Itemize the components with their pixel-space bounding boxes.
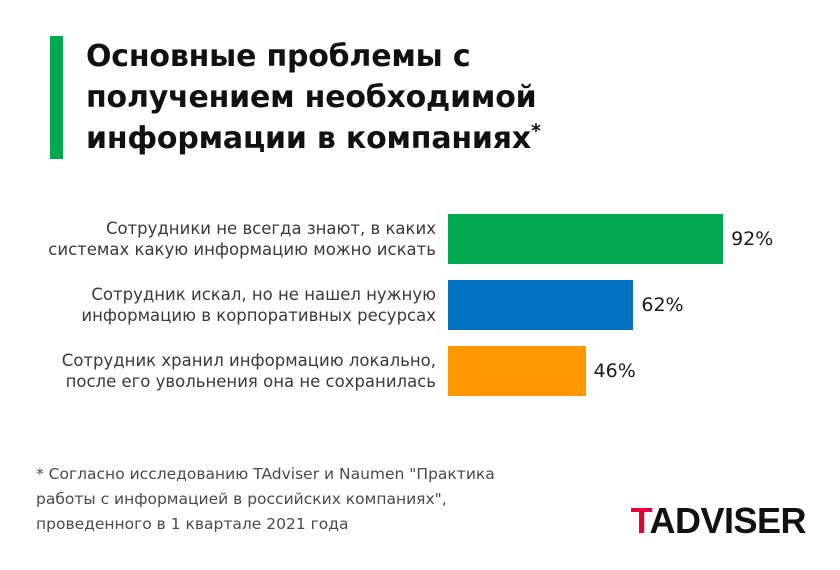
title-footnote-marker: * xyxy=(531,120,541,142)
bar-area: 62% xyxy=(448,280,840,330)
bar-category-label-line-2: после его увольнения она не сохранилась xyxy=(0,371,436,392)
bar-value-label: 46% xyxy=(594,360,636,382)
chart-row: Сотрудник искал, но не нашел нужную инфо… xyxy=(0,280,840,330)
bar-category-label-line-1: Сотрудники не всегда знают, в каких xyxy=(0,218,436,239)
bar-green xyxy=(448,214,723,264)
bar-category-label: Сотрудник искал, но не нашел нужную инфо… xyxy=(0,284,448,326)
bar-category-label-line-2: системах какую информацию можно искать xyxy=(0,239,436,260)
page-title-text: Основные проблемы с получением необходим… xyxy=(86,36,541,159)
bar-value-label: 62% xyxy=(641,294,683,316)
tadviser-logo: TADVISER xyxy=(631,500,806,542)
footnote-line-1: * Согласно исследованию TAdviser и Naume… xyxy=(36,462,581,487)
footnote-line-3: проведенного в 1 квартале 2021 года xyxy=(36,512,581,537)
bar-area: 46% xyxy=(448,346,840,396)
bar-value-label: 92% xyxy=(731,228,773,250)
page-title-line-2: получением необходимой xyxy=(86,77,541,118)
chart-row: Сотрудник хранил информацию локально, по… xyxy=(0,346,840,396)
bar-category-label: Сотрудники не всегда знают, в каких сист… xyxy=(0,218,448,260)
footnote-line-2: работы с информацией в российских компан… xyxy=(36,487,581,512)
footnote: * Согласно исследованию TAdviser и Naume… xyxy=(36,462,581,537)
bar-chart: Сотрудники не всегда знают, в каких сист… xyxy=(0,214,840,412)
bar-category-label-line-1: Сотрудник искал, но не нашел нужную xyxy=(0,284,436,305)
bar-category-label: Сотрудник хранил информацию локально, по… xyxy=(0,350,448,392)
page-title-line-1: Основные проблемы с xyxy=(86,36,541,77)
bar-category-label-line-1: Сотрудник хранил информацию локально, xyxy=(0,350,436,371)
bar-area: 92% xyxy=(448,214,840,264)
bar-blue xyxy=(448,280,633,330)
tadviser-logo-initial: T xyxy=(631,500,650,541)
tadviser-logo-text: ADVISER xyxy=(649,500,806,541)
bar-orange xyxy=(448,346,586,396)
bar-category-label-line-2: информацию в корпоративных ресурсах xyxy=(0,305,436,326)
page-title: Основные проблемы с получением необходим… xyxy=(50,36,541,159)
page-title-line-3-text: информации в компаниях xyxy=(86,121,531,156)
page-title-line-3: информации в компаниях* xyxy=(86,118,541,159)
title-accent-bar xyxy=(50,36,63,159)
chart-row: Сотрудники не всегда знают, в каких сист… xyxy=(0,214,840,264)
